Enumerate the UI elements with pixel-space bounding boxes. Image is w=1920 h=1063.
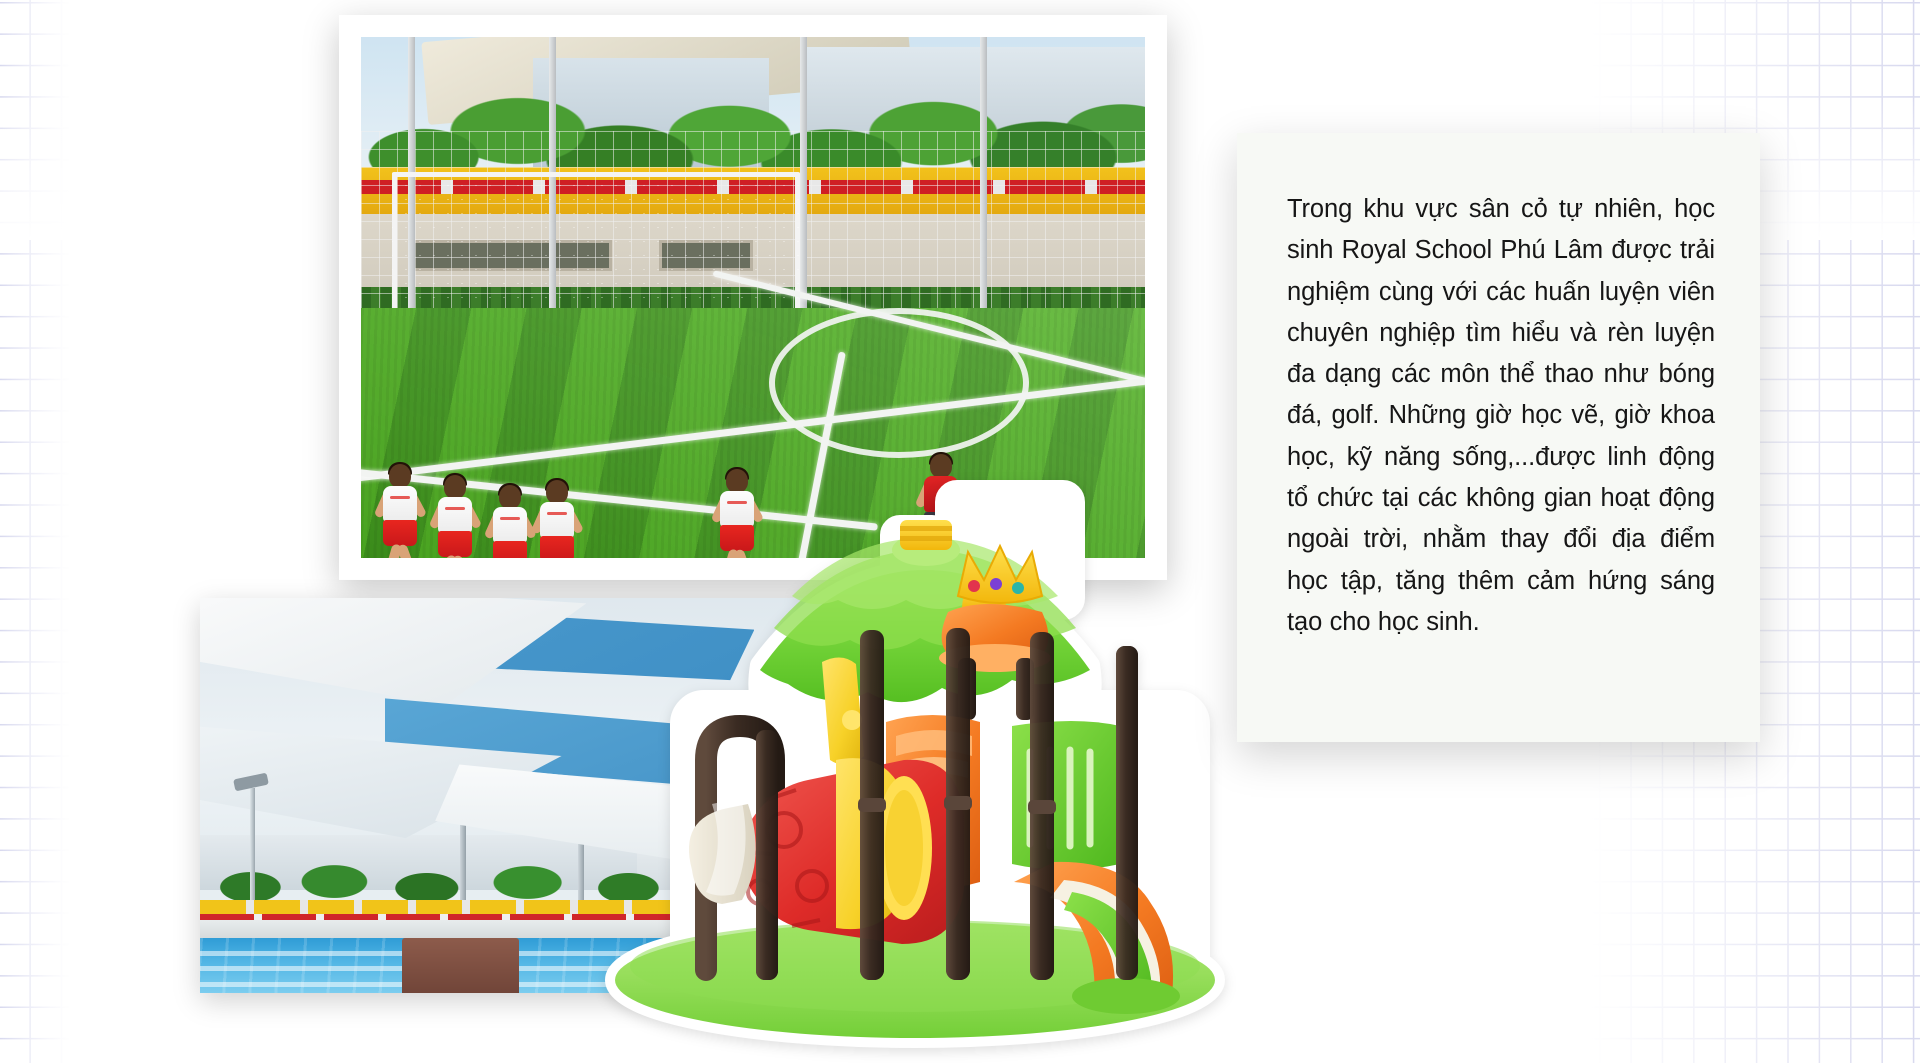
article-paragraph: Trong khu vực sân cỏ tự nhiên, học sinh … xyxy=(1287,189,1715,643)
starburst-icon xyxy=(216,428,328,540)
page-canvas: Trong khu vực sân cỏ tự nhiên, học sinh … xyxy=(0,0,1920,1063)
crown-icon xyxy=(958,546,1042,603)
photo-playground-structure xyxy=(560,400,1280,1060)
article-text-card: Trong khu vực sân cỏ tự nhiên, học sinh … xyxy=(1237,133,1760,742)
canopy-cap xyxy=(900,520,952,550)
